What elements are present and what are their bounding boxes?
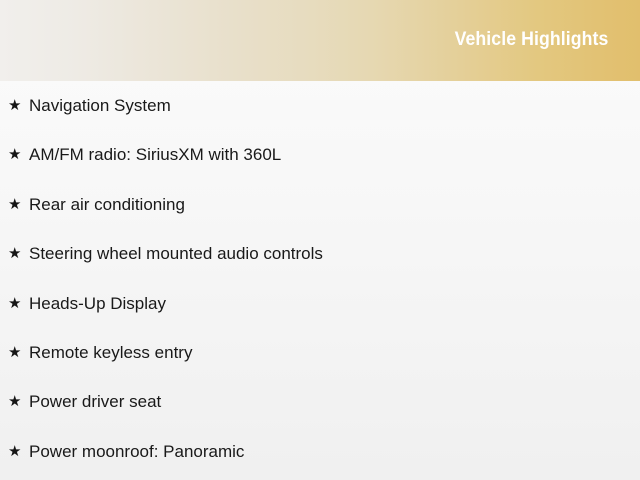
- list-item-label: Navigation System: [29, 96, 171, 115]
- star-icon: ★: [8, 180, 22, 229]
- list-item-label: Steering wheel mounted audio controls: [29, 244, 323, 263]
- list-item: ★ Power moonroof: Panoramic: [0, 427, 640, 476]
- list-item: ★ Remote keyless entry: [0, 328, 640, 377]
- list-item-label: Power driver seat: [29, 392, 161, 411]
- highlights-list: ★ Navigation System ★ AM/FM radio: Siriu…: [0, 81, 640, 476]
- vehicle-highlights-panel: Vehicle Highlights ★ Navigation System ★…: [0, 0, 640, 480]
- star-icon: ★: [8, 328, 22, 377]
- star-icon: ★: [8, 130, 22, 179]
- star-icon: ★: [8, 229, 22, 278]
- list-item: ★ Power driver seat: [0, 377, 640, 426]
- list-item-label: Heads-Up Display: [29, 294, 166, 313]
- header-band: Vehicle Highlights: [0, 0, 640, 81]
- star-icon: ★: [8, 377, 22, 426]
- list-item: ★ Steering wheel mounted audio controls: [0, 229, 640, 278]
- list-item: ★ AM/FM radio: SiriusXM with 360L: [0, 130, 640, 179]
- star-icon: ★: [8, 279, 22, 328]
- list-item-label: Power moonroof: Panoramic: [29, 442, 244, 461]
- list-item-label: Rear air conditioning: [29, 195, 185, 214]
- list-item: ★ Rear air conditioning: [0, 180, 640, 229]
- star-icon: ★: [8, 81, 22, 130]
- star-icon: ★: [8, 427, 22, 476]
- list-item-label: AM/FM radio: SiriusXM with 360L: [29, 145, 281, 164]
- list-item: ★ Heads-Up Display: [0, 279, 640, 328]
- page-title: Vehicle Highlights: [454, 28, 608, 52]
- list-item-label: Remote keyless entry: [29, 343, 192, 362]
- list-item: ★ Navigation System: [0, 81, 640, 130]
